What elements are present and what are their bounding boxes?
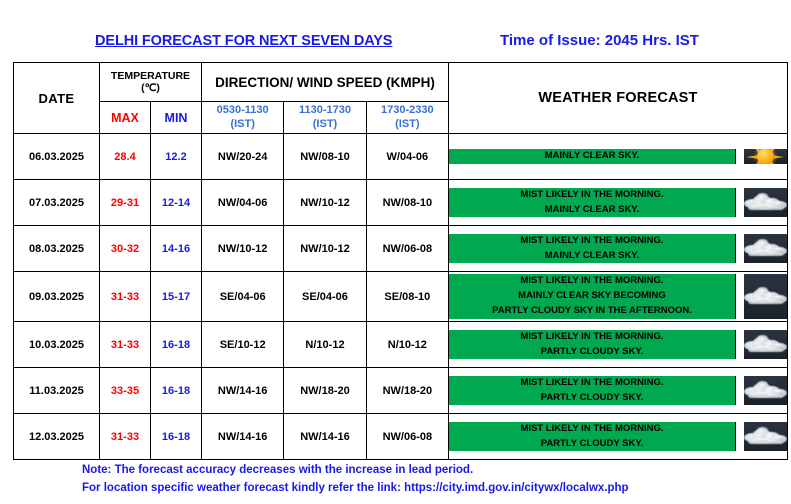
issue-time-label: Time of Issue: 2045 Hrs. IST: [500, 32, 699, 49]
cell-max-temp: 30-32: [100, 226, 151, 272]
weather-forecast-text: MIST LIKELY IN THE MORNING.MAINLY CLEAR …: [449, 188, 736, 217]
cell-max-temp: 28.4: [100, 134, 151, 180]
forecast-line: MAINLY CLEAR SKY.: [520, 249, 663, 264]
cell-wind-slot3: N/10-12: [366, 322, 448, 368]
cell-min-temp: 16-18: [151, 368, 202, 414]
cell-date: 08.03.2025: [14, 226, 100, 272]
cell-wind-slot3: NW/08-10: [366, 180, 448, 226]
weather-forecast-text: MAINLY CLEAR SKY.: [449, 149, 736, 164]
cell-max-temp: 31-33: [100, 414, 151, 460]
table-row: 09.03.202531-3315-17SE/04-06SE/04-06SE/0…: [14, 272, 788, 322]
column-header-weather-forecast: WEATHER FORECAST: [449, 63, 788, 134]
mist-icon: [744, 238, 787, 260]
mist-puff: [757, 381, 768, 387]
cell-min-temp: 14-16: [151, 226, 202, 272]
table-row: 12.03.202531-3316-18NW/14-16NW/14-16NW/0…: [14, 414, 788, 460]
forecast-line: PARTLY CLOUDY SKY.: [520, 391, 663, 406]
cell-max-temp: 29-31: [100, 180, 151, 226]
cell-weather-forecast: MIST LIKELY IN THE MORNING.MAINLY CLEAR …: [449, 180, 788, 226]
weather-forecast-text: MIST LIKELY IN THE MORNING.MAINLY CLEAR …: [449, 274, 736, 318]
weather-forecast-wrapper: MIST LIKELY IN THE MORNING.MAINLY CLEAR …: [449, 234, 787, 263]
mist-puff: [757, 287, 768, 293]
cell-wind-slot3: NW/06-08: [366, 226, 448, 272]
mist-icon: [744, 334, 787, 356]
forecast-line: MAINLY CLEAR SKY.: [520, 203, 663, 218]
cell-wind-slot1: NW/04-06: [202, 180, 284, 226]
cell-max-temp: 31-33: [100, 272, 151, 322]
column-header-date: DATE: [14, 63, 100, 134]
temperature-header-line2: (℃): [141, 82, 160, 94]
mist-puff: [757, 335, 768, 341]
temperature-header-line1: TEMPERATURE: [111, 70, 190, 82]
cell-min-temp: 12-14: [151, 180, 202, 226]
forecast-icon-gap: [736, 274, 744, 318]
cell-wind-slot1: NW/10-12: [202, 226, 284, 272]
weather-icon-cell: [744, 234, 787, 263]
forecast-line: PARTLY CLOUDY SKY.: [520, 437, 663, 452]
cell-wind-slot1: NW/20-24: [202, 134, 284, 180]
forecast-line: MIST LIKELY IN THE MORNING.: [520, 376, 663, 391]
forecast-table-body: 06.03.202528.412.2NW/20-24NW/08-10W/04-0…: [14, 134, 788, 460]
footer-note: Note: The forecast accuracy decreases wi…: [82, 462, 629, 498]
footer-note-line1: Note: The forecast accuracy decreases wi…: [82, 462, 629, 480]
cell-weather-forecast: MIST LIKELY IN THE MORNING.PARTLY CLOUDY…: [449, 368, 788, 414]
column-header-min-temp: MIN: [151, 102, 202, 134]
cell-min-temp: 15-17: [151, 272, 202, 322]
cell-wind-slot1: NW/14-16: [202, 368, 284, 414]
mist-puff: [748, 204, 784, 210]
forecast-icon-gap: [736, 149, 744, 164]
slot1-range: 0530-1130: [217, 104, 269, 116]
mist-puff: [748, 346, 784, 352]
forecast-line: MAINLY CLEAR SKY.: [545, 149, 640, 164]
column-header-slot-1730-2330: 1730-2330 (IST): [366, 102, 448, 134]
table-row: 10.03.202531-3316-18SE/10-12N/10-12N/10-…: [14, 322, 788, 368]
table-row: 06.03.202528.412.2NW/20-24NW/08-10W/04-0…: [14, 134, 788, 180]
cell-max-temp: 31-33: [100, 322, 151, 368]
weather-forecast-wrapper: MIST LIKELY IN THE MORNING.MAINLY CLEAR …: [449, 188, 787, 217]
sun-core: [757, 149, 774, 164]
cell-min-temp: 16-18: [151, 414, 202, 460]
cell-wind-slot2: NW/14-16: [284, 414, 366, 460]
mist-puff: [748, 298, 784, 304]
cell-date: 12.03.2025: [14, 414, 100, 460]
cell-weather-forecast: MIST LIKELY IN THE MORNING.MAINLY CLEAR …: [449, 226, 788, 272]
forecast-line: MIST LIKELY IN THE MORNING.: [492, 274, 692, 289]
weather-forecast-wrapper: MIST LIKELY IN THE MORNING.PARTLY CLOUDY…: [449, 422, 787, 451]
weather-forecast-wrapper: MAINLY CLEAR SKY.: [449, 149, 787, 164]
weather-forecast-wrapper: MIST LIKELY IN THE MORNING.MAINLY CLEAR …: [449, 274, 787, 318]
cell-wind-slot3: NW/18-20: [366, 368, 448, 414]
column-header-slot-1130-1730: 1130-1730 (IST): [284, 102, 366, 134]
slot1-ist: (IST): [230, 118, 254, 130]
slot2-ist: (IST): [313, 118, 337, 130]
slot2-range: 1130-1730: [299, 104, 351, 116]
column-header-max-temp: MAX: [100, 102, 151, 134]
forecast-line: PARTLY CLOUDY SKY IN THE AFTERNOON.: [492, 304, 692, 319]
forecast-icon-gap: [736, 330, 744, 359]
cell-min-temp: 12.2: [151, 134, 202, 180]
cell-weather-forecast: MAINLY CLEAR SKY.: [449, 134, 788, 180]
cell-wind-slot2: NW/18-20: [284, 368, 366, 414]
weather-forecast-text: MIST LIKELY IN THE MORNING.MAINLY CLEAR …: [449, 234, 736, 263]
column-header-wind-direction-speed: DIRECTION/ WIND SPEED (KMPH): [202, 63, 449, 102]
page-title: DELHI FORECAST FOR NEXT SEVEN DAYS: [95, 33, 392, 49]
cell-wind-slot2: SE/04-06: [284, 272, 366, 322]
cell-wind-slot3: W/04-06: [366, 134, 448, 180]
mist-icon: [744, 380, 787, 402]
cell-date: 10.03.2025: [14, 322, 100, 368]
cell-wind-slot2: N/10-12: [284, 322, 366, 368]
forecast-line: MAINLY CLEAR SKY BECOMING: [492, 289, 692, 304]
weather-forecast-text: MIST LIKELY IN THE MORNING.PARTLY CLOUDY…: [449, 376, 736, 405]
weather-icon-cell: [744, 376, 787, 405]
mist-puff: [757, 239, 768, 245]
table-row: 11.03.202533-3516-18NW/14-16NW/18-20NW/1…: [14, 368, 788, 414]
mist-puff: [757, 427, 768, 433]
forecast-icon-gap: [736, 422, 744, 451]
weather-icon-cell: [744, 330, 787, 359]
weather-icon-cell: [744, 274, 787, 318]
slot3-range: 1730-2330: [381, 104, 434, 116]
sun-icon: [745, 149, 787, 164]
weather-forecast-wrapper: MIST LIKELY IN THE MORNING.PARTLY CLOUDY…: [449, 330, 787, 359]
cell-wind-slot1: NW/14-16: [202, 414, 284, 460]
forecast-line: MIST LIKELY IN THE MORNING.: [520, 188, 663, 203]
table-row: 08.03.202530-3214-16NW/10-12NW/10-12NW/0…: [14, 226, 788, 272]
cell-max-temp: 33-35: [100, 368, 151, 414]
forecast-icon-gap: [736, 234, 744, 263]
forecast-icon-gap: [736, 376, 744, 405]
cell-weather-forecast: MIST LIKELY IN THE MORNING.PARTLY CLOUDY…: [449, 322, 788, 368]
cell-weather-forecast: MIST LIKELY IN THE MORNING.MAINLY CLEAR …: [449, 272, 788, 322]
column-header-slot-0530-1130: 0530-1130 (IST): [202, 102, 284, 134]
weather-icon-cell: [744, 422, 787, 451]
weather-forecast-text: MIST LIKELY IN THE MORNING.PARTLY CLOUDY…: [449, 330, 736, 359]
mist-puff: [748, 438, 784, 444]
cell-wind-slot3: NW/06-08: [366, 414, 448, 460]
cell-wind-slot2: NW/10-12: [284, 226, 366, 272]
cell-wind-slot1: SE/10-12: [202, 322, 284, 368]
mist-puff: [748, 392, 784, 398]
weather-icon-cell: [744, 188, 787, 217]
cell-date: 11.03.2025: [14, 368, 100, 414]
mist-puff: [748, 250, 784, 256]
forecast-line: MIST LIKELY IN THE MORNING.: [520, 422, 663, 437]
cell-min-temp: 16-18: [151, 322, 202, 368]
mist-icon: [744, 192, 787, 214]
mist-icon: [744, 426, 787, 448]
footer-note-line2: For location specific weather forecast k…: [82, 480, 629, 498]
forecast-line: MIST LIKELY IN THE MORNING.: [520, 330, 663, 345]
cell-date: 07.03.2025: [14, 180, 100, 226]
weather-forecast-wrapper: MIST LIKELY IN THE MORNING.PARTLY CLOUDY…: [449, 376, 787, 405]
mist-puff: [757, 193, 768, 199]
cell-wind-slot3: SE/08-10: [366, 272, 448, 322]
forecast-table-header: DATE TEMPERATURE (℃) DIRECTION/ WIND SPE…: [14, 63, 788, 134]
forecast-line: PARTLY CLOUDY SKY.: [520, 345, 663, 360]
weather-forecast-text: MIST LIKELY IN THE MORNING.PARTLY CLOUDY…: [449, 422, 736, 451]
page-header: DELHI FORECAST FOR NEXT SEVEN DAYS Time …: [0, 30, 791, 58]
table-row: 07.03.202529-3112-14NW/04-06NW/10-12NW/0…: [14, 180, 788, 226]
weather-icon-cell: [744, 149, 787, 164]
slot3-ist: (IST): [395, 118, 419, 130]
forecast-table: DATE TEMPERATURE (℃) DIRECTION/ WIND SPE…: [13, 62, 788, 460]
cell-wind-slot2: NW/10-12: [284, 180, 366, 226]
forecast-line: MIST LIKELY IN THE MORNING.: [520, 234, 663, 249]
cell-date: 09.03.2025: [14, 272, 100, 322]
cell-wind-slot2: NW/08-10: [284, 134, 366, 180]
cell-wind-slot1: SE/04-06: [202, 272, 284, 322]
mist-icon: [744, 286, 787, 308]
forecast-icon-gap: [736, 188, 744, 217]
cell-date: 06.03.2025: [14, 134, 100, 180]
column-header-temperature: TEMPERATURE (℃): [100, 63, 202, 102]
cell-weather-forecast: MIST LIKELY IN THE MORNING.PARTLY CLOUDY…: [449, 414, 788, 460]
